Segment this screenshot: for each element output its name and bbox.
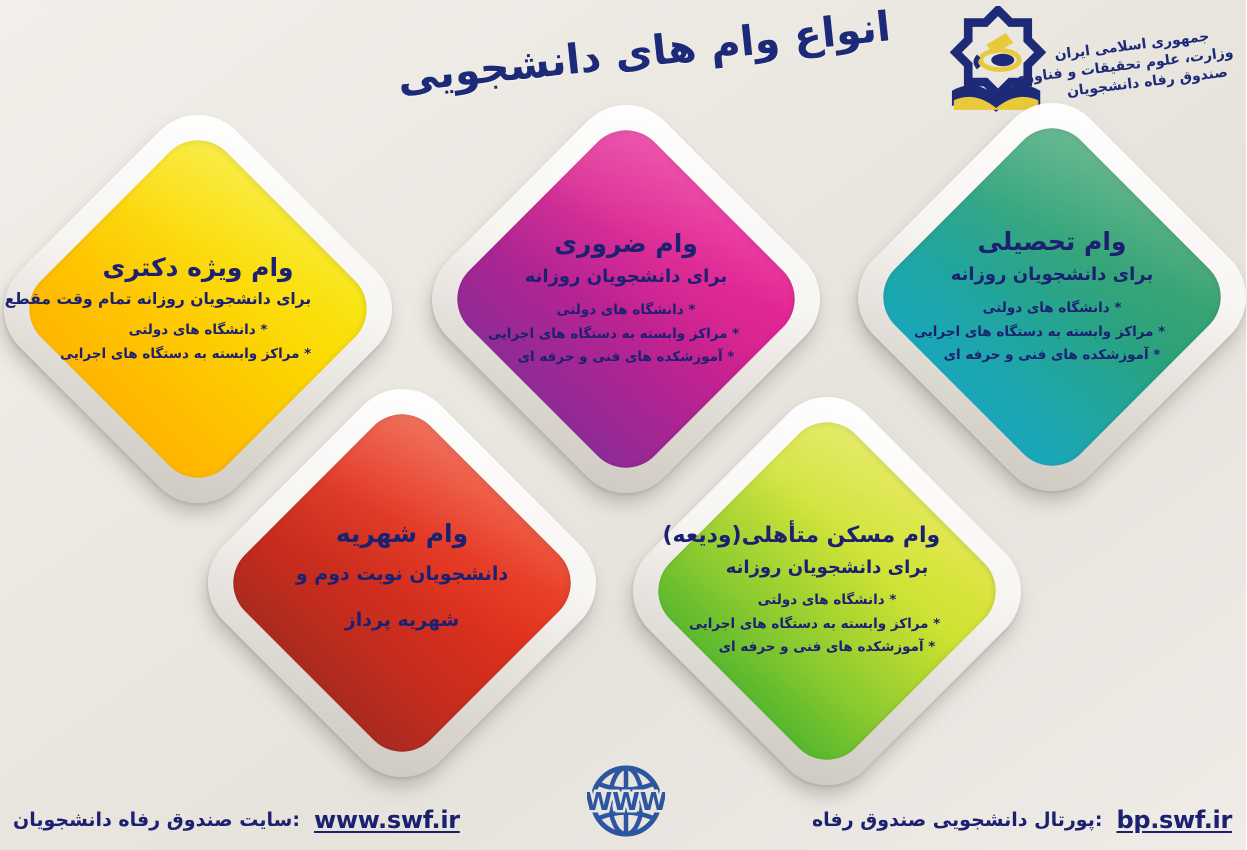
card-face (868, 112, 1239, 483)
page-title: انواع وام های دانشجویی (451, 0, 839, 122)
ministry-emblem-icon (951, 6, 1047, 114)
link-bp-swf-ir[interactable]: bp.swf.ir (1117, 806, 1233, 834)
card-face (442, 114, 813, 485)
card-face (643, 406, 1014, 777)
poster-canvas: انواع وام های دانشجویی جمهوری اسلامی ایر… (0, 0, 1247, 850)
footer-portal-swf: bp.swf.ir :پورتال دانشجویی صندوق رفاه (813, 800, 1233, 840)
loan-card-zaruri[interactable]: وام ضروری برای دانشجویان روزانه * دانشگا… (474, 146, 780, 452)
loan-card-maskan[interactable]: وام مسکن متأهلی(ودیعه) برای دانشجویان رو… (675, 438, 981, 744)
loan-card-tahsili[interactable]: وام تحصیلی برای دانشجویان روزانه * دانشگ… (900, 144, 1206, 450)
www-globe-icon: WWW (588, 762, 666, 840)
footer-site-swf: www.swf.ir :سایت صندوق رفاه دانشجویان (14, 800, 461, 840)
loan-card-phd[interactable]: وام ویژه دکتری برای دانشجویان روزانه تما… (46, 156, 352, 462)
loan-card-shahriye[interactable]: وام شهریه دانشجویان نوبت دوم و شهریه پرد… (250, 430, 556, 736)
card-face (218, 398, 589, 769)
footer-portal-label: :پورتال دانشجویی صندوق رفاه (813, 809, 1104, 831)
link-www-swf-ir[interactable]: www.swf.ir (315, 806, 461, 834)
organization-logo: جمهوری اسلامی ایران وزارت، علوم تحقیقات … (949, 4, 1239, 124)
svg-text:WWW: WWW (588, 787, 666, 816)
footer-site-label: :سایت صندوق رفاه دانشجویان (14, 809, 301, 831)
